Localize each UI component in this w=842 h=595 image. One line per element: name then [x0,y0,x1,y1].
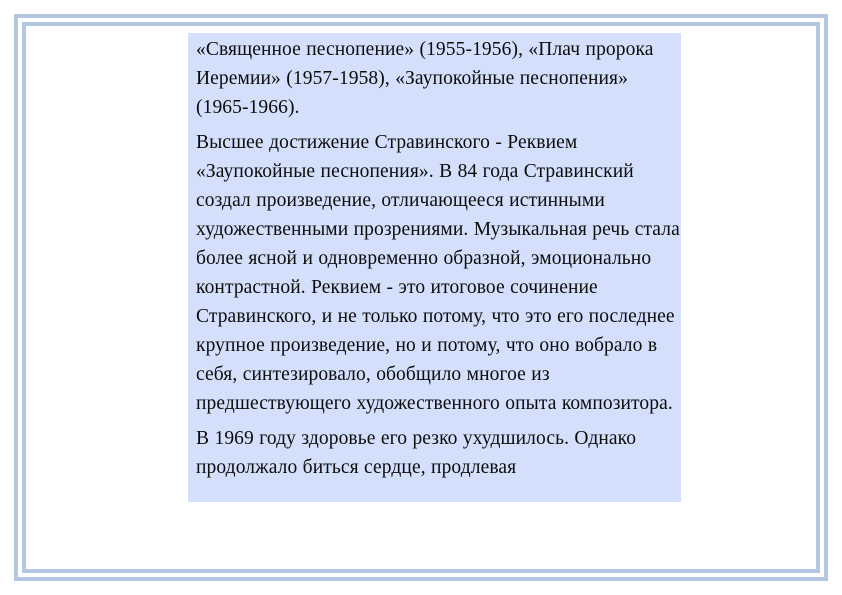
paragraph-2: Высшее достижение Стравинского - Реквием… [196,128,681,418]
text-content-box: «Священное песнопение» (1955-1956), «Пла… [188,33,681,502]
text-flow: «Священное песнопение» (1955-1956), «Пла… [196,35,681,482]
paragraph-1: «Священное песнопение» (1955-1956), «Пла… [196,35,681,122]
paragraph-3: В 1969 году здоровье его резко ухудшилос… [196,424,681,482]
slide: «Священное песнопение» (1955-1956), «Пла… [0,0,842,595]
